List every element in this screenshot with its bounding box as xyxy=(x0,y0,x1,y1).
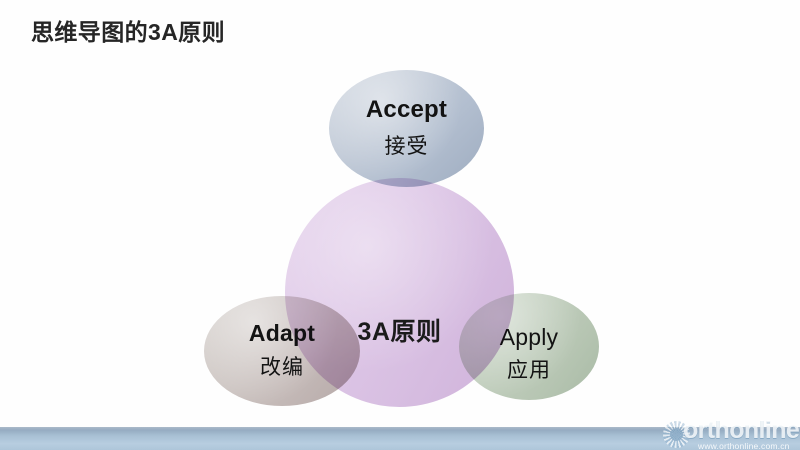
slide-canvas: 思维导图的3A原则 3A原则 Accept 接受 Adapt 改编 Apply … xyxy=(0,0,800,450)
bubble-adapt-label-zh: 改编 xyxy=(260,351,304,381)
bubble-apply-label-en: Apply xyxy=(500,325,559,349)
bubble-apply-label-zh: 应用 xyxy=(507,354,551,384)
footer-band xyxy=(0,427,800,450)
bubble-adapt[interactable]: Adapt 改编 xyxy=(204,296,360,406)
bubble-core-label: 3A原则 xyxy=(358,312,442,348)
bubble-accept-label-en: Accept xyxy=(366,97,447,122)
bubble-adapt-label-en: Adapt xyxy=(249,321,315,345)
bubble-accept-label-zh: 接受 xyxy=(385,130,429,160)
bubble-accept[interactable]: Accept 接受 xyxy=(329,70,484,187)
footer-band-highlight xyxy=(0,427,800,430)
venn-diagram: 3A原则 Accept 接受 Adapt 改编 Apply 应用 xyxy=(0,0,800,430)
bubble-apply[interactable]: Apply 应用 xyxy=(459,293,599,400)
